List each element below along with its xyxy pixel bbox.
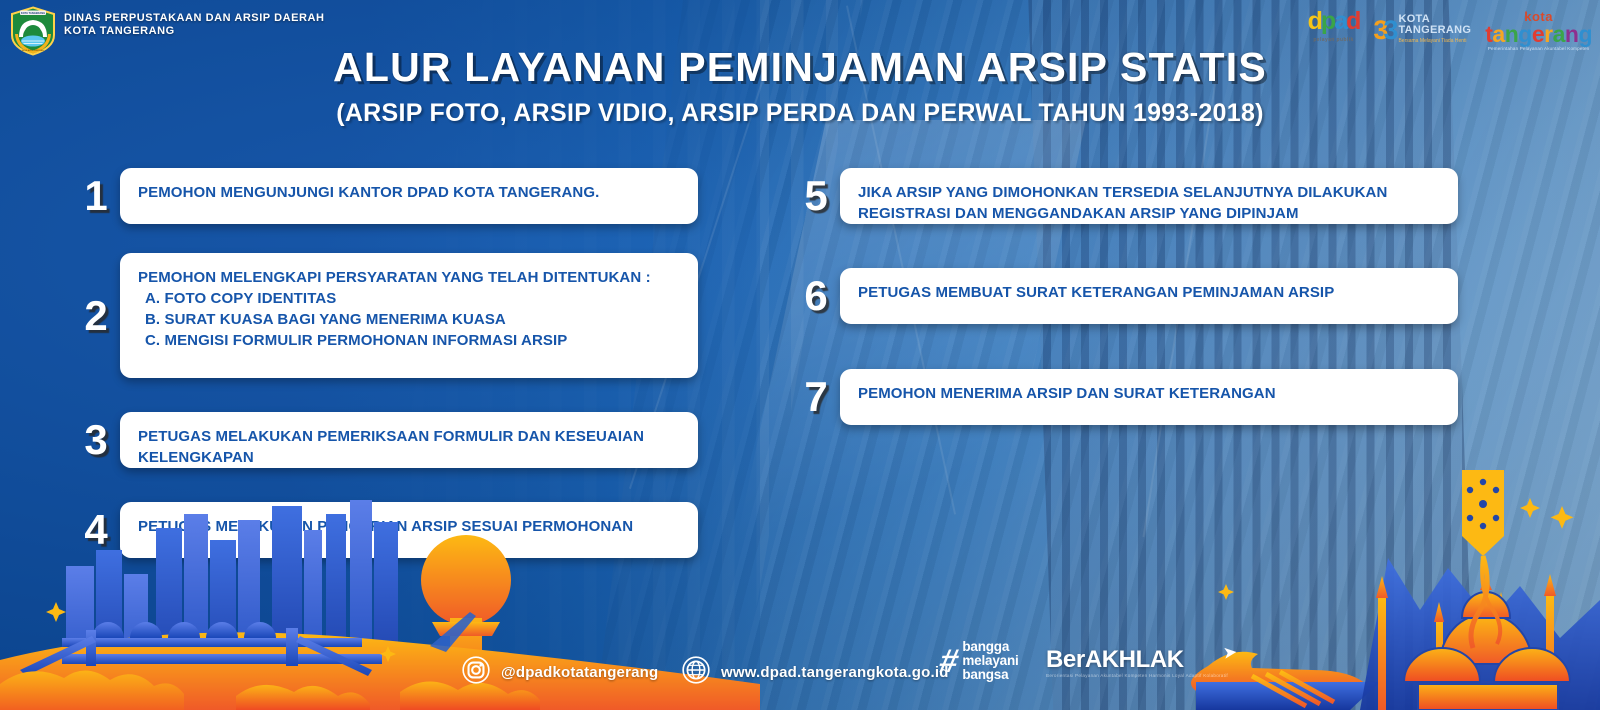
step-line: KELENGKAPAN	[138, 447, 680, 468]
step-5: 5 JIKA ARSIP YANG DIMOHONKAN TERSEDIA SE…	[792, 168, 1462, 224]
step-card: PEMOHON MELENGKAPI PERSYARATAN YANG TELA…	[120, 253, 698, 378]
step-line: A. FOTO COPY IDENTITAS	[138, 288, 680, 309]
website-url: www.dpad.tangerangkota.go.id	[721, 664, 949, 681]
step-card: PETUGAS MEMBUAT SURAT KETERANGAN PEMINJA…	[840, 268, 1458, 324]
berakhlak-logo: BerAKHLAK Berorientasi Pelayanan Akuntab…	[1046, 648, 1228, 678]
step-number: 2	[72, 295, 120, 337]
anniversary-logo-icon: 33 KOTA TANGERANG Bersama Melayani Tiada…	[1373, 14, 1471, 47]
step-card: JIKA ARSIP YANG DIMOHONKAN TERSEDIA SELA…	[840, 168, 1458, 224]
bangga-text: bangga melayani bangsa	[962, 640, 1018, 682]
bangga-melayani-bangsa-logo: # bangga melayani bangsa	[940, 640, 1019, 682]
step-line: PETUGAS MELAKUKAN PEMERIKSAAN FORMULIR D…	[138, 426, 680, 447]
anniversary-line-2: TANGERANG	[1398, 24, 1471, 36]
berakhlak-swoosh-icon: ➤	[1222, 642, 1238, 663]
anniversary-mark: 33	[1373, 17, 1393, 44]
step-card: PETUGAS MELAKUKAN PEMERIKSAAN FORMULIR D…	[120, 412, 698, 468]
org-line-2: KOTA TANGERANG	[64, 25, 324, 38]
step-line: PEMOHON MENERIMA ARSIP DAN SURAT KETERAN…	[858, 383, 1440, 404]
bangga-line-3: bangsa	[962, 667, 1008, 682]
svg-text:KOTA TANGERANG: KOTA TANGERANG	[21, 11, 45, 15]
berakhlak-tagline: Berorientasi Pelayanan Akuntabel Kompete…	[1046, 673, 1228, 678]
step-6: 6 PETUGAS MEMBUAT SURAT KETERANGAN PEMIN…	[792, 268, 1462, 324]
instagram-footer-item[interactable]: @dpadkotatangerang	[462, 656, 658, 688]
step-number: 7	[792, 376, 840, 418]
step-line: PETUGAS MEMBUAT SURAT KETERANGAN PEMINJA…	[858, 282, 1440, 303]
page-title: ALUR LAYANAN PEMINJAMAN ARSIP STATIS	[0, 44, 1600, 91]
page-subtitle: (ARSIP FOTO, ARSIP VIDIO, ARSIP PERDA DA…	[0, 99, 1600, 128]
globe-icon	[682, 656, 710, 688]
bangga-line-1: bangga	[962, 639, 1009, 654]
step-line: C. MENGISI FORMULIR PERMOHONAN INFORMASI…	[138, 330, 680, 351]
step-line: PEMOHON MELENGKAPI PERSYARATAN YANG TELA…	[138, 267, 680, 288]
organization-name: DINAS PERPUSTAKAAN DAN ARSIP DAERAH KOTA…	[64, 12, 324, 38]
step-line: B. SURAT KUASA BAGI YANG MENERIMA KUASA	[138, 309, 680, 330]
step-line: JIKA ARSIP YANG DIMOHONKAN TERSEDIA SELA…	[858, 182, 1440, 203]
step-3: 3 PETUGAS MELAKUKAN PEMERIKSAAN FORMULIR…	[72, 412, 702, 468]
step-2: 2 PEMOHON MELENGKAPI PERSYARATAN YANG TE…	[72, 253, 702, 378]
anniversary-text: KOTA TANGERANG Bersama Melayani Tiada He…	[1398, 14, 1471, 47]
step-line: REGISTRASI DAN MENGGANDAKAN ARSIP YANG D…	[858, 203, 1440, 224]
instagram-icon	[462, 656, 490, 688]
berakhlak-mark: BerAKHLAK	[1046, 648, 1228, 672]
infographic-canvas: KOTA TANGERANG AKHLAKUL KARIMAH DINAS PE…	[0, 0, 1600, 710]
kota-logo-main: tangerang	[1485, 23, 1592, 46]
step-number: 1	[72, 175, 120, 217]
step-number: 6	[792, 275, 840, 317]
step-7: 7 PEMOHON MENERIMA ARSIP DAN SURAT KETER…	[792, 369, 1462, 425]
step-number: 5	[792, 175, 840, 217]
bangga-line-2: melayani	[962, 653, 1018, 668]
website-footer-item[interactable]: www.dpad.tangerangkota.go.id	[682, 656, 949, 688]
step-card: PEMOHON MENGUNJUNGI KANTOR DPAD KOTA TAN…	[120, 168, 698, 224]
step-1: 1 PEMOHON MENGUNJUNGI KANTOR DPAD KOTA T…	[72, 168, 702, 224]
step-line: PEMOHON MENGUNJUNGI KANTOR DPAD KOTA TAN…	[138, 182, 680, 203]
step-card: PEMOHON MENERIMA ARSIP DAN SURAT KETERAN…	[840, 369, 1458, 425]
hash-icon: #	[937, 646, 960, 676]
instagram-handle: @dpadkotatangerang	[501, 664, 658, 681]
step-number: 3	[72, 419, 120, 461]
org-line-1: DINAS PERPUSTAKAAN DAN ARSIP DAERAH	[64, 12, 324, 25]
